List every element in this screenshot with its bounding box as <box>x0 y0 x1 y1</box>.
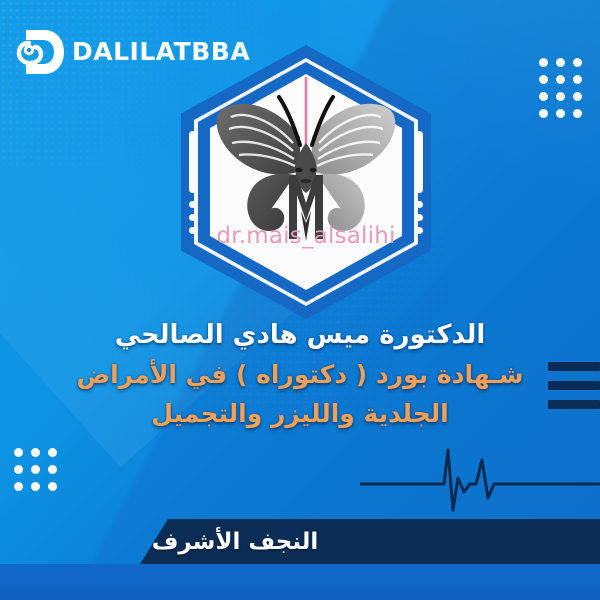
hexagon-tab-left <box>189 131 196 193</box>
location-text: النجف الأشرف <box>152 529 319 555</box>
location-banner: النجف الأشرف <box>0 519 600 564</box>
stethoscope-d-logo-icon <box>16 24 68 80</box>
doctor-credential-line-1: شـهادة بورد ( دكتوراه ) في الأمراض <box>40 357 560 393</box>
badge-handle-text: dr.mais_alsalihi <box>181 223 431 249</box>
doctor-credential-line-2: الجلدية والليزر والتجميل <box>40 396 560 432</box>
doctor-name: الدكتورة ميس هادي الصالحي <box>40 318 560 353</box>
heartbeat-line-icon <box>360 440 600 520</box>
doctor-info-block: الدكتورة ميس هادي الصالحي شـهادة بورد ( … <box>40 318 560 432</box>
dot-grid-icon-left <box>14 448 57 491</box>
hexagon-badge: dr.mais_alsalihi <box>181 45 431 319</box>
dot-grid-icon-top-right <box>539 58 582 118</box>
hexagon-tab-right <box>416 131 423 193</box>
promo-card: DALILATBBA <box>0 0 600 600</box>
footer-strip-lower <box>0 586 600 600</box>
